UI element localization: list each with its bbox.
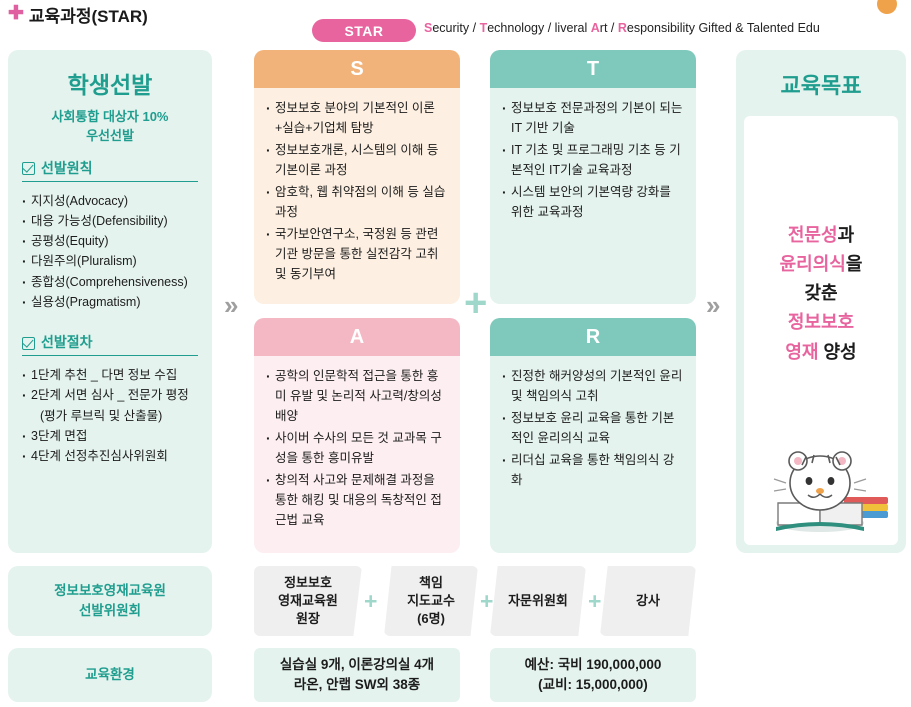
legend-a-text: rt / <box>600 21 618 35</box>
plus-icon: + <box>588 590 601 613</box>
goal-line1-suffix: 과 <box>838 225 855 245</box>
quadrant-card-a: A 공학의 인문학적 접근을 통한 흥미 유발 및 논리적 사고력/창의성 배양… <box>254 318 460 553</box>
list-item: 4단계 선정추진심사위원회 <box>22 446 198 466</box>
goal-line2-suffix: 을 <box>846 254 863 274</box>
list-item: 공학의 인문학적 접근을 통한 흥미 유발 및 논리적 사고력/창의성 배양 <box>266 366 448 426</box>
tiger-mascot-icon <box>762 437 896 537</box>
org-chip-instructor: 강사 <box>600 566 696 636</box>
spacer <box>22 312 198 332</box>
selection-principles-list: 지지성(Advocacy) 대응 가능성(Defensibility) 공평성(… <box>22 191 198 313</box>
list-item: 리더십 교육을 통한 책임의식 강화 <box>502 450 684 490</box>
check-icon <box>22 337 35 350</box>
quadrant-card-s: S 정보보호 분야의 기본적인 이론+실습+기업체 탐방 정보보호개론, 시스템… <box>254 50 460 304</box>
education-goal-card: 교육목표 전문성과 윤리의식을 갖춘 정보보호 영재 양성 <box>736 50 906 553</box>
selection-procedure-title: 선발절차 <box>41 332 93 352</box>
goal-line3: 갖춘 <box>744 279 898 308</box>
legend-r-letter: R <box>618 21 627 35</box>
list-item: 대응 가능성(Defensibility) <box>22 211 198 231</box>
list-item: 1단계 추천 _ 다면 정보 수집 <box>22 365 198 385</box>
plus-icon: + <box>480 590 493 613</box>
legend-t-text: echnology / liveral <box>487 21 591 35</box>
page-title: ✚ 교육과정(STAR) <box>8 2 148 27</box>
student-selection-card: 학생선발 사회통합 대상자 10% 우선선발 선발원칙 지지성(Advocacy… <box>8 50 212 553</box>
education-goal-body: 전문성과 윤리의식을 갖춘 정보보호 영재 양성 <box>744 116 898 545</box>
list-item: 국가보안연구소, 국정원 등 관련기관 방문을 통한 실전감각 고취 및 동기부… <box>266 224 448 284</box>
org-chip-professor: 책임 지도교수 (6명) <box>384 566 478 636</box>
student-selection-subtitle: 사회통합 대상자 10% 우선선발 <box>22 108 198 146</box>
org-chip-advisory: 자문위원회 <box>490 566 586 636</box>
student-selection-title: 학생선발 <box>22 66 198 100</box>
list-item: 정보보호 전문과정의 기본이 되는 IT 기반 기술 <box>502 98 684 138</box>
list-item: 정보보호 윤리 교육을 통한 기본적인 윤리의식 교육 <box>502 408 684 448</box>
star-legend: Security / Technology / liveral Art / Re… <box>424 21 820 35</box>
list-item: (평가 루브릭 및 산출물) <box>22 406 198 426</box>
quadrant-s-body: 정보보호 분야의 기본적인 이론+실습+기업체 탐방 정보보호개론, 시스템의 … <box>254 88 460 294</box>
quadrant-t-letter: T <box>490 50 696 88</box>
goal-keyword-expertise: 전문성 <box>788 225 838 245</box>
selection-principles-title: 선발원칙 <box>41 158 93 178</box>
org-chip-director: 정보보호 영재교육원 원장 <box>254 566 362 636</box>
facility-info: 실습실 9개, 이론강의실 4개 라온, 안랩 SW외 38종 <box>254 648 460 702</box>
budget-info: 예산: 국비 190,000,000 (교비: 15,000,000) <box>490 648 696 702</box>
list-item: 시스템 보안의 기본역량 강화를 위한 교육과정 <box>502 182 684 222</box>
quadrant-a-letter: A <box>254 318 460 356</box>
goal-keyword-ethics: 윤리의식 <box>780 254 846 274</box>
diagram-root: ✚ 교육과정(STAR) STAR Security / Technology … <box>0 0 911 707</box>
list-item: 다원주의(Pluralism) <box>22 251 198 271</box>
selection-principles-heading: 선발원칙 <box>22 158 198 182</box>
list-item: 진정한 해커양성의 기본적인 윤리 및 책임의식 고취 <box>502 366 684 406</box>
quadrant-t-body: 정보보호 전문과정의 기본이 되는 IT 기반 기술 IT 기초 및 프로그래밍… <box>490 88 696 232</box>
list-item: 2단계 서면 심사 _ 전문가 평정 <box>22 385 198 405</box>
plus-icon: ✚ <box>8 4 24 23</box>
quadrant-r-letter: R <box>490 318 696 356</box>
list-item: 암호학, 웹 취약점의 이해 등 실습과정 <box>266 182 448 222</box>
list-item: 사이버 수사의 모든 것 교과목 구성을 통한 흥미유발 <box>266 428 448 468</box>
plus-icon: + <box>464 283 487 323</box>
arrow-right-icon: » <box>224 292 238 318</box>
education-goal-title: 교육목표 <box>736 50 906 100</box>
selection-procedure-list: 1단계 추천 _ 다면 정보 수집 2단계 서면 심사 _ 전문가 평정 (평가… <box>22 365 198 466</box>
legend-a-letter: A <box>591 21 600 35</box>
quadrant-a-body: 공학의 인문학적 접근을 통한 흥미 유발 및 논리적 사고력/창의성 배양 사… <box>254 356 460 540</box>
list-item: 정보보호 분야의 기본적인 이론+실습+기업체 탐방 <box>266 98 448 138</box>
list-item: 3단계 면접 <box>22 426 198 446</box>
decorative-dot <box>877 0 897 14</box>
selection-procedure-heading: 선발절차 <box>22 332 198 356</box>
check-icon <box>22 162 35 175</box>
goal-line4: 정보보호 <box>744 308 898 337</box>
education-environment-pill: 교육환경 <box>8 648 212 702</box>
list-item: 공평성(Equity) <box>22 231 198 251</box>
selection-committee-pill: 정보보호영재교육원 선발위원회 <box>8 566 212 636</box>
list-item: IT 기초 및 프로그래밍 기초 등 기본적인 IT기술 교육과정 <box>502 140 684 180</box>
quadrant-card-t: T 정보보호 전문과정의 기본이 되는 IT 기반 기술 IT 기초 및 프로그… <box>490 50 696 304</box>
goal-line5-suffix: 양성 <box>819 342 857 362</box>
list-item: 창의적 사고와 문제해결 과정을 통한 해킹 및 대응의 독창적인 접근법 교육 <box>266 470 448 530</box>
quadrant-s-letter: S <box>254 50 460 88</box>
legend-r-text: esponsibility Gifted & Talented Edu <box>627 21 820 35</box>
star-pill: STAR <box>312 19 416 42</box>
list-item: 정보보호개론, 시스템의 이해 등 기본이론 과정 <box>266 140 448 180</box>
list-item: 종합성(Comprehensiveness) <box>22 272 198 292</box>
plus-icon: + <box>364 590 377 613</box>
goal-keyword-gifted: 영재 <box>785 342 818 362</box>
list-item: 지지성(Advocacy) <box>22 191 198 211</box>
arrow-right-icon: » <box>706 292 720 318</box>
list-item: 실용성(Pragmatism) <box>22 292 198 312</box>
quadrant-r-body: 진정한 해커양성의 기본적인 윤리 및 책임의식 고취 정보보호 윤리 교육을 … <box>490 356 696 500</box>
page-title-text: 교육과정(STAR) <box>29 2 148 27</box>
legend-s-text: ecurity / <box>432 21 479 35</box>
education-goal-text: 전문성과 윤리의식을 갖춘 정보보호 영재 양성 <box>744 221 898 367</box>
quadrant-card-r: R 진정한 해커양성의 기본적인 윤리 및 책임의식 고취 정보보호 윤리 교육… <box>490 318 696 553</box>
